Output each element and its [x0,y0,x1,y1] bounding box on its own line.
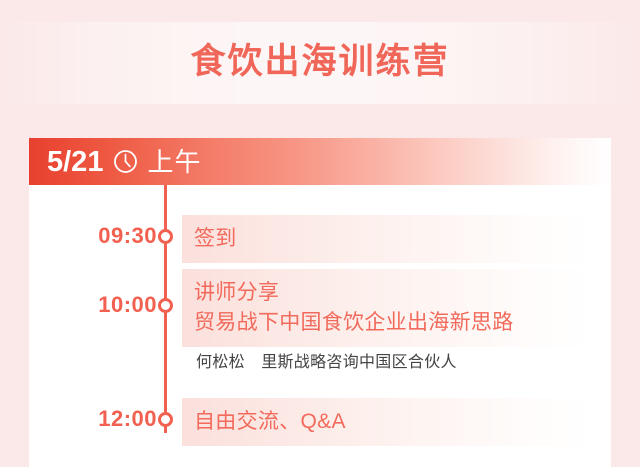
timeline-dot [158,298,173,313]
row-content: 讲师分享 贸易战下中国食饮企业出海新思路 [182,269,592,347]
row-content-line: 自由交流、Q&A [194,407,592,437]
schedule-card: 5/21 上午 09:30 签到 10:00 [29,138,611,467]
time-column: 12:00 [29,406,157,432]
row-content-line: 贸易战下中国食饮企业出海新思路 [194,308,592,338]
row-time: 09:30 [37,223,157,249]
schedule-header-bar: 5/21 上午 [29,138,611,185]
row-content: 自由交流、Q&A [182,398,592,446]
schedule-date: 5/21 [47,147,103,177]
time-column: 10:00 [29,292,157,318]
page-title: 食饮出海训练营 [0,40,640,84]
row-content: 签到 [182,215,592,263]
row-time: 10:00 [37,292,157,318]
timeline-dot [158,412,173,427]
schedule-period: 上午 [147,147,201,177]
row-content-line: 签到 [194,224,592,254]
time-column: 09:30 [29,223,157,249]
row-speaker: 何松松 里斯战略咨询中国区合伙人 [196,352,457,374]
clock-icon [113,149,138,174]
row-content-line: 讲师分享 [194,278,592,308]
timeline-dot [158,229,173,244]
row-time: 12:00 [37,406,157,432]
